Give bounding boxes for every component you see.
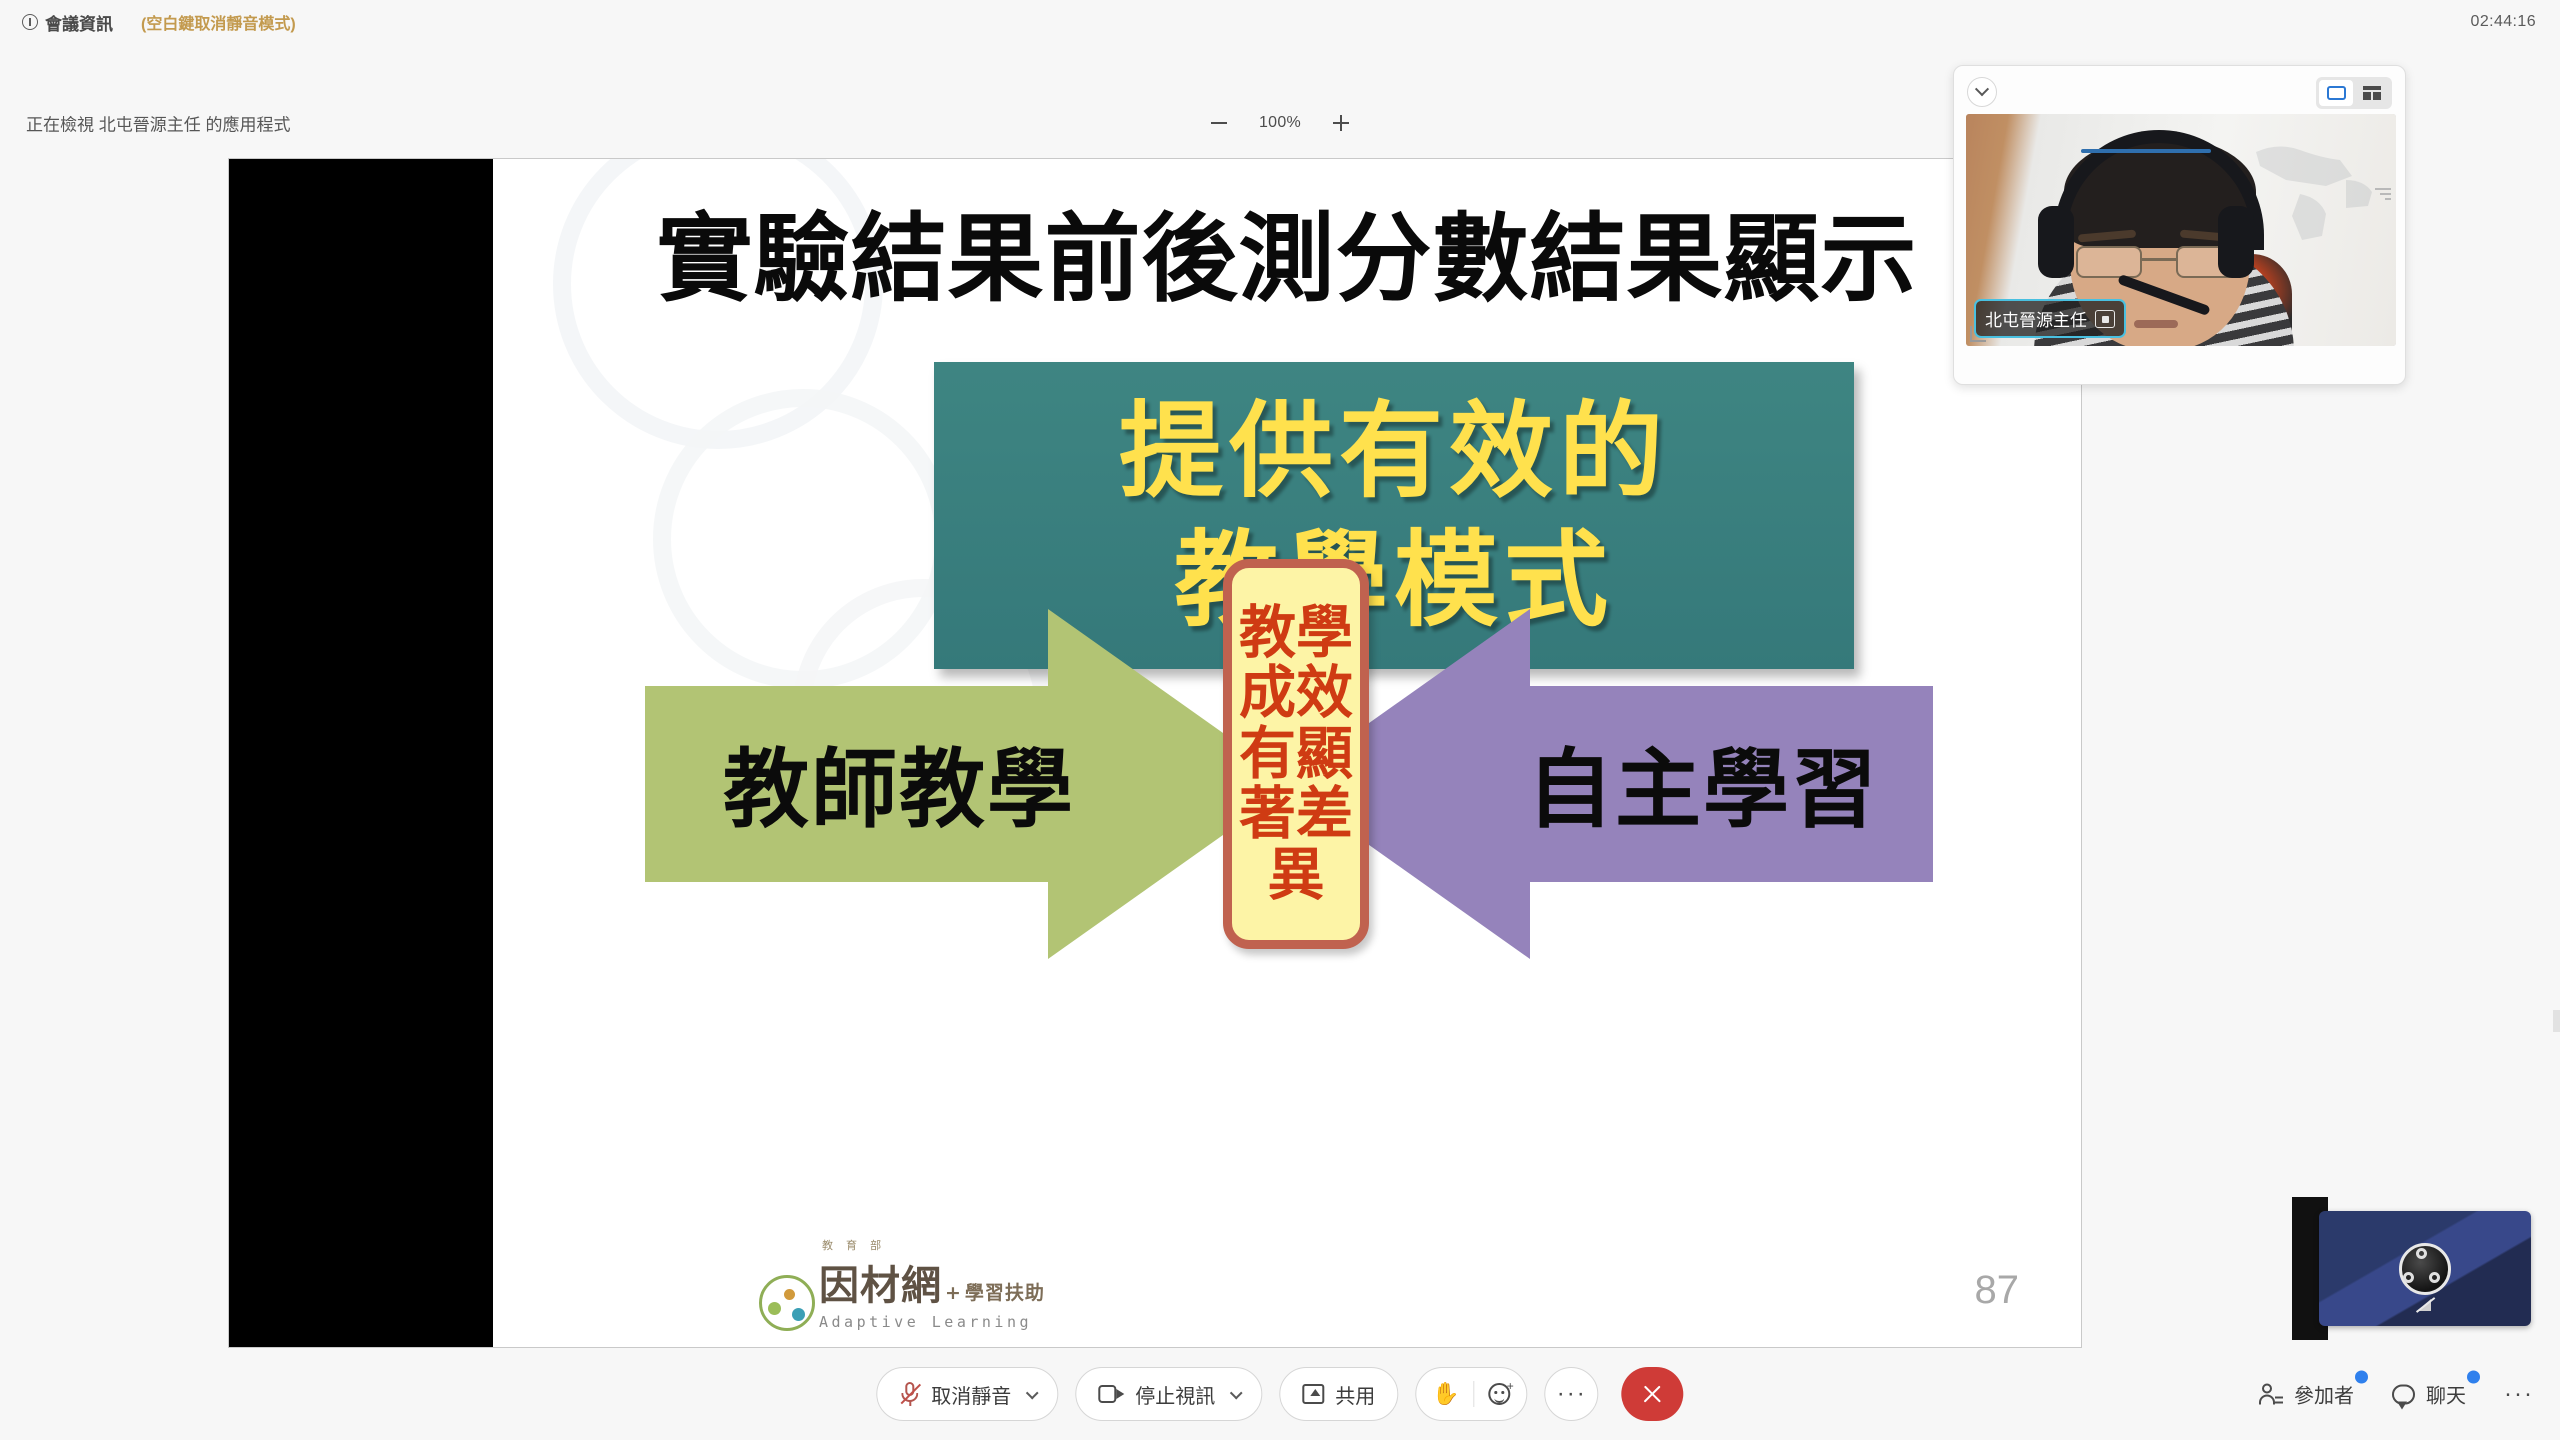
logo-main-label: 因材網: [819, 1253, 942, 1311]
mic-muted-icon: [2415, 1297, 2435, 1313]
leave-meeting-icon: [1642, 1383, 1664, 1405]
more-options-icon: ···: [1557, 1380, 1587, 1408]
divider: [1474, 1381, 1475, 1407]
participants-button-label: 參加者: [2294, 1380, 2354, 1409]
zoom-controls: 100%: [1208, 112, 1352, 134]
logo-ministry-label: 教 育 部: [822, 1237, 1045, 1253]
person-mouth: [2134, 320, 2178, 328]
zoom-out-button[interactable]: [1208, 112, 1230, 134]
logo-plus-label: +: [945, 1282, 962, 1304]
center-box-row: 成效: [1239, 663, 1353, 723]
share-screen-button[interactable]: 共用: [1279, 1367, 1398, 1421]
share-screen-button-label: 共用: [1335, 1380, 1375, 1409]
teal-box-line-1: 提供有效的: [1119, 390, 1669, 513]
stop-video-button[interactable]: 停止視訊: [1075, 1367, 1262, 1421]
chat-button[interactable]: 聊天: [2392, 1380, 2466, 1409]
teal-highlight-box: 提供有效的 教學模式: [934, 362, 1854, 669]
more-options-button[interactable]: ···: [1545, 1367, 1599, 1421]
headset-earcup: [2038, 206, 2074, 278]
screen-edge-marker: [2553, 1010, 2560, 1032]
participants-badge-dot: [2355, 1371, 2368, 1384]
meeting-timer: 02:44:16: [2471, 13, 2536, 31]
participants-icon: [2259, 1383, 2283, 1405]
center-box-row: 異: [1268, 845, 1325, 905]
speaker-view-button[interactable]: [2319, 80, 2353, 106]
shared-screen-area[interactable]: 實驗結果前後測分數結果顯示 提供有效的 教學模式 教師教學 自主學習 教學 成效…: [228, 158, 2082, 1348]
pin-video-icon[interactable]: [2095, 310, 2115, 328]
unmute-button[interactable]: 取消靜音: [876, 1367, 1058, 1421]
center-box-row: 著差: [1239, 784, 1353, 844]
toolbar-more-button[interactable]: ···: [2504, 1380, 2534, 1408]
gallery-view-button[interactable]: [2355, 80, 2389, 106]
resize-handle[interactable]: [2373, 184, 2391, 202]
video-corner-marker: [1970, 326, 1986, 342]
center-box-row: 有顯: [1239, 724, 1353, 784]
camera-icon: [1098, 1385, 1124, 1403]
info-circle-icon: [22, 14, 38, 30]
logo-extra-label: 學習扶助: [965, 1278, 1045, 1305]
center-box-row: 教學: [1239, 603, 1353, 663]
participant-name-label: 北屯晉源主任: [1985, 306, 2087, 331]
unmute-button-label: 取消靜音: [931, 1380, 1011, 1409]
logo-mark-icon: [759, 1275, 815, 1331]
adaptive-learning-logo: 教 育 部 因材網 + 學習扶助 Adaptive Learning: [759, 1237, 1045, 1331]
view-mode-toggle[interactable]: [2316, 77, 2392, 109]
participant-name-badge[interactable]: 北屯晉源主任: [1974, 299, 2126, 338]
obs-studio-icon: [2399, 1243, 2451, 1295]
stop-video-button-label: 停止視訊: [1135, 1380, 1215, 1409]
gallery-view-icon: [2363, 86, 2381, 100]
chat-badge-dot: [2467, 1371, 2480, 1384]
chat-button-label: 聊天: [2426, 1380, 2466, 1409]
center-callout-box: 教學 成效 有顯 著差 異: [1223, 559, 1369, 949]
slide-page-number: 87: [1975, 1268, 2020, 1313]
slide-title: 實驗結果前後測分數結果顯示: [493, 181, 2081, 320]
toolbar-right-group: 參加者 聊天 ···: [2259, 1380, 2534, 1409]
viewing-label: 正在檢視 北屯晉源主任 的應用程式: [26, 111, 290, 136]
meeting-info-button[interactable]: 會議資訊: [22, 10, 113, 35]
obs-studio-preview[interactable]: [2319, 1211, 2531, 1326]
top-bar: 會議資訊 (空白鍵取消靜音模式) 02:44:16: [0, 0, 2560, 44]
speaker-view-icon: [2327, 86, 2346, 100]
leave-meeting-button[interactable]: [1622, 1367, 1684, 1421]
emoji-reaction-icon[interactable]: +: [1489, 1383, 1511, 1405]
reactions-group[interactable]: ✋ +: [1415, 1367, 1527, 1421]
toolbar-center-group: 取消靜音 停止視訊 共用 ✋ +: [876, 1367, 1683, 1421]
zoom-meeting-window: 會議資訊 (空白鍵取消靜音模式) 02:44:16 正在檢視 北屯晉源主任 的應…: [0, 0, 2560, 1440]
participants-button[interactable]: 參加者: [2259, 1380, 2354, 1409]
left-arrow-label: 教師教學: [689, 719, 1109, 844]
headset-earcup: [2218, 206, 2254, 278]
chevron-down-icon: [1975, 82, 1989, 96]
unmute-hint-label: (空白鍵取消靜音模式): [141, 10, 296, 34]
zoom-in-button[interactable]: [1330, 112, 1352, 134]
self-view-panel[interactable]: 北屯晉源主任: [1953, 65, 2406, 385]
collapse-video-panel-button[interactable]: [1967, 77, 1997, 107]
meeting-toolbar: 取消靜音 停止視訊 共用 ✋ +: [0, 1348, 2560, 1440]
chevron-down-icon[interactable]: [1230, 1386, 1243, 1399]
meeting-info-label: 會議資訊: [45, 10, 113, 35]
chevron-down-icon[interactable]: [1026, 1386, 1039, 1399]
raise-hand-icon[interactable]: ✋: [1432, 1383, 1459, 1405]
share-screen-icon: [1302, 1384, 1324, 1404]
right-arrow-label: 自主學習: [1493, 719, 1913, 844]
participant-video-tile[interactable]: 北屯晉源主任: [1966, 114, 2396, 346]
chat-icon: [2392, 1384, 2415, 1404]
mic-muted-icon: [899, 1381, 920, 1407]
logo-english-label: Adaptive Learning: [819, 1313, 1045, 1331]
zoom-level-label: 100%: [1252, 114, 1308, 132]
more-options-icon: ···: [2504, 1380, 2534, 1407]
presentation-slide: 實驗結果前後測分數結果顯示 提供有效的 教學模式 教師教學 自主學習 教學 成效…: [493, 159, 2081, 1348]
